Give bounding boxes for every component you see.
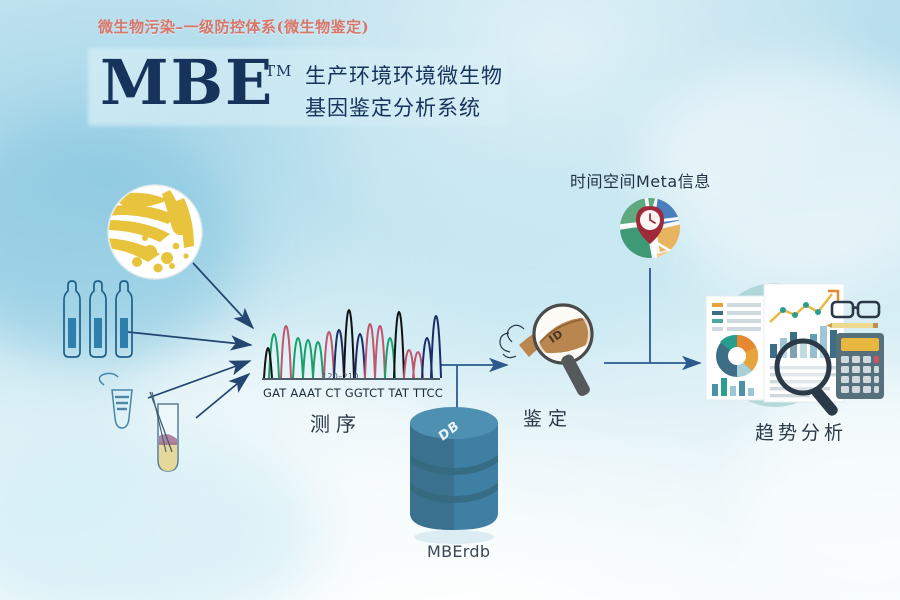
analysis-illustration <box>0 0 900 600</box>
poster-canvas: 微生物污染–一级防控体系(微生物鉴定) MBE TM 生产环境环境微生物 基因鉴… <box>0 0 900 600</box>
pencil-icon <box>826 323 878 328</box>
report-document-left <box>706 296 768 400</box>
calculator-icon <box>836 333 884 399</box>
step-label-analysis: 趋势分析 <box>755 418 847 445</box>
pie-chart <box>716 335 758 377</box>
